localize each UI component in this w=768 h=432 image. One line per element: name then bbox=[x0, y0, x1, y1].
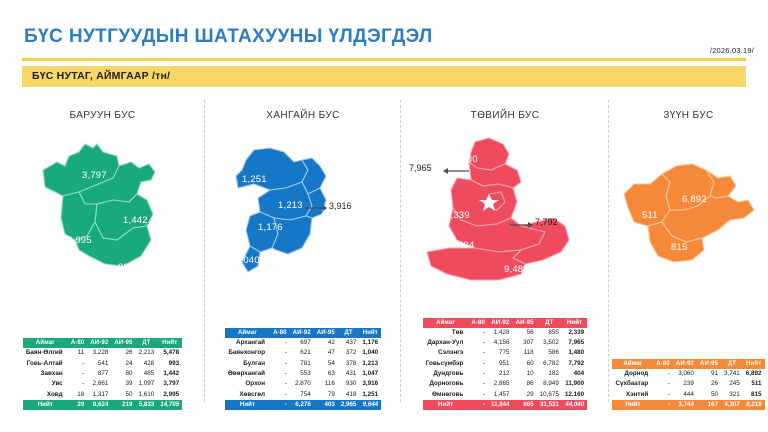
cell-total: 1,442 bbox=[157, 369, 182, 379]
cell-ai95: 118 bbox=[513, 348, 537, 358]
region-panel-zuun: ЗҮҮН БУС 6,892 511 815 Аймаг bbox=[609, 92, 768, 432]
cell-dt: 2,213 bbox=[135, 348, 157, 358]
cell-ai95: 26 bbox=[697, 379, 721, 389]
regions-container: БАРУУН БУС 3,797 5,478 1,442 2,995 993 bbox=[0, 92, 768, 432]
table-row: Баян-Өлгий 11 3,228 26 2,213 5,478 bbox=[23, 348, 182, 358]
callout-arrow-icon bbox=[509, 221, 533, 229]
cell-ai95: 63 bbox=[314, 369, 338, 379]
cell-total: 404 bbox=[562, 369, 587, 379]
cell-aimag: Баян-Өлгий bbox=[23, 348, 68, 358]
region-table-wrap-zuun: Аймаг А-80 АИ-92 АИ-95 ДТ Нийт Дорнод - … bbox=[609, 359, 768, 410]
table-total-row: Нийт - 11,844 665 31,531 44,040 bbox=[423, 400, 587, 410]
cell-total-label: Нийт bbox=[225, 400, 270, 410]
cell-dt: 586 bbox=[537, 348, 562, 358]
table-body: Дорнод - 3,060 91 3,741 6,892 Сүхбаатар … bbox=[612, 369, 764, 400]
col-ai92: АИ-92 bbox=[87, 338, 111, 348]
table-row: Завхан - 877 80 485 1,442 bbox=[23, 369, 182, 379]
cell-dt: 485 bbox=[135, 369, 157, 379]
region-panel-hangai: ХАНГАЙН БУС 1,251 1,213 1,176 1,040 1,04… bbox=[205, 92, 401, 432]
table-total-row: Нийт 29 8,624 219 5,833 14,705 bbox=[23, 400, 182, 410]
report-date: /2026.03.19/ bbox=[710, 46, 754, 55]
region-table-tuv: Аймаг А-80 АИ-92 АИ-95 ДТ Нийт Төв - 1,4… bbox=[423, 318, 587, 410]
table-foot: Нийт - 11,844 665 31,531 44,040 bbox=[423, 400, 587, 410]
cell-total: 12,160 bbox=[562, 390, 587, 400]
cell-ai92: 781 bbox=[290, 359, 314, 369]
col-dt: ДТ bbox=[537, 318, 562, 328]
cell-total: 1,213 bbox=[359, 359, 381, 369]
table-row: Архангай - 697 42 437 1,176 bbox=[225, 338, 381, 348]
map-shape-tuv bbox=[413, 122, 598, 290]
cell-total-a80: - bbox=[653, 400, 673, 410]
cell-dt: 372 bbox=[338, 348, 359, 358]
cell-ai92: 754 bbox=[290, 390, 314, 400]
region-table-zuun: Аймаг А-80 АИ-92 АИ-95 ДТ Нийт Дорнод - … bbox=[612, 359, 764, 410]
col-a80: А-80 bbox=[68, 338, 88, 348]
cell-total-ai95: 219 bbox=[111, 400, 135, 410]
region-panel-tuv: ТӨВИЙН БУС 1,480 2,339 404 9,485 12,160 bbox=[401, 92, 609, 432]
cell-dt: 6,782 bbox=[537, 359, 562, 369]
table-row: Дорнод - 3,060 91 3,741 6,892 bbox=[612, 369, 764, 379]
cell-dt: 1,610 bbox=[135, 390, 157, 400]
cell-a80: - bbox=[270, 348, 290, 358]
cell-a80: - bbox=[68, 379, 88, 389]
cell-total: 7,792 bbox=[562, 359, 587, 369]
table-body: Баян-Өлгий 11 3,228 26 2,213 5,478 Говь-… bbox=[23, 348, 182, 399]
cell-aimag: Говьсүмбэр bbox=[423, 359, 469, 369]
cell-ai95: 42 bbox=[314, 338, 338, 348]
cell-ai95: 116 bbox=[314, 379, 338, 389]
cell-dt: 8,949 bbox=[537, 379, 562, 389]
cell-aimag: Дорнод bbox=[612, 369, 653, 379]
table-foot: Нийт - 6,276 403 2,965 9,644 bbox=[225, 400, 381, 410]
region-table-wrap-hangai: Аймаг А-80 АИ-92 АИ-95 ДТ Нийт Архангай … bbox=[205, 328, 401, 410]
region-panel-baruun: БАРУУН БУС 3,797 5,478 1,442 2,995 993 bbox=[0, 92, 205, 432]
cell-ai92: 2,870 bbox=[290, 379, 314, 389]
table-row: Говьсүмбэр - 951 60 6,782 7,792 bbox=[423, 359, 587, 369]
cell-ai95: 91 bbox=[697, 369, 721, 379]
cell-total-dt: 2,965 bbox=[338, 400, 359, 410]
map-shape-zuun bbox=[614, 122, 764, 282]
cell-ai92: 239 bbox=[673, 379, 697, 389]
cell-a80: - bbox=[468, 338, 488, 348]
cell-total: 11,900 bbox=[562, 379, 587, 389]
cell-ai95: 60 bbox=[513, 359, 537, 369]
cell-total: 3,916 bbox=[359, 379, 381, 389]
cell-total: 815 bbox=[743, 390, 765, 400]
cell-ai92: 951 bbox=[488, 359, 513, 369]
cell-aimag: Хэнтий bbox=[612, 390, 653, 400]
region-map-zuun: 6,892 511 815 bbox=[609, 122, 768, 297]
table-row: Орхон - 2,870 116 930 3,916 bbox=[225, 379, 381, 389]
cell-ai95: 307 bbox=[513, 338, 537, 348]
cell-total: 3,797 bbox=[157, 379, 182, 389]
cell-total-a80: 29 bbox=[68, 400, 88, 410]
cell-aimag: Дорноговь bbox=[423, 379, 469, 389]
cell-a80: - bbox=[270, 369, 290, 379]
cell-total: 1,047 bbox=[359, 369, 381, 379]
page-header: БҮС НУТГУУДЫН ШАТАХУУНЫ ҮЛДЭГДЭЛ /2026.0… bbox=[0, 0, 768, 62]
cell-a80: 18 bbox=[68, 390, 88, 400]
col-ai92: АИ-92 bbox=[290, 328, 314, 338]
section-bar: БҮС НУТАГ, АЙМГААР /тн/ bbox=[22, 66, 746, 87]
cell-aimag: Говь-Алтай bbox=[23, 359, 68, 369]
cell-dt: 855 bbox=[537, 328, 562, 338]
cell-a80: - bbox=[68, 369, 88, 379]
section-label: БҮС НУТАГ, АЙМГААР /тн/ bbox=[32, 70, 170, 82]
col-ai95: АИ-95 bbox=[314, 328, 338, 338]
cell-a80: - bbox=[468, 379, 488, 389]
table-row: Говь-Алтай - 541 24 428 993 bbox=[23, 359, 182, 369]
col-ai95: АИ-95 bbox=[513, 318, 537, 328]
table-body: Архангай - 697 42 437 1,176 Баянхонгор -… bbox=[225, 338, 381, 400]
col-a80: А-80 bbox=[653, 359, 673, 369]
cell-total-sum: 8,218 bbox=[743, 400, 765, 410]
col-total: Нийт bbox=[743, 359, 765, 369]
cell-dt: 3,502 bbox=[537, 338, 562, 348]
region-table-hangai: Аймаг А-80 АИ-92 АИ-95 ДТ Нийт Архангай … bbox=[225, 328, 381, 410]
table-row: Увс - 2,661 39 1,097 3,797 bbox=[23, 379, 182, 389]
cell-ai95: 50 bbox=[111, 390, 135, 400]
cell-total-a80: - bbox=[270, 400, 290, 410]
cell-total-ai92: 3,744 bbox=[673, 400, 697, 410]
cell-ai92: 212 bbox=[488, 369, 513, 379]
map-shape-hangai bbox=[216, 122, 391, 282]
cell-dt: 431 bbox=[338, 369, 359, 379]
cell-total-dt: 5,833 bbox=[135, 400, 157, 410]
cell-a80: - bbox=[270, 338, 290, 348]
cell-dt: 418 bbox=[338, 390, 359, 400]
cell-dt: 930 bbox=[338, 379, 359, 389]
col-total: Нийт bbox=[359, 328, 381, 338]
cell-ai92: 553 bbox=[290, 369, 314, 379]
cell-a80: - bbox=[653, 390, 673, 400]
col-dt: ДТ bbox=[135, 338, 157, 348]
cell-ai92: 4,156 bbox=[488, 338, 513, 348]
table-head: Аймаг А-80 АИ-92 АИ-95 ДТ Нийт bbox=[225, 328, 381, 338]
table-head: Аймаг А-80 АИ-92 АИ-95 ДТ Нийт bbox=[23, 338, 182, 348]
cell-total-ai95: 665 bbox=[513, 400, 537, 410]
region-map-hangai: 1,251 1,213 1,176 1,040 1,047 3,916 bbox=[205, 122, 401, 297]
cell-a80: - bbox=[468, 328, 488, 338]
region-title-tuv: ТӨВИЙН БУС bbox=[401, 110, 609, 121]
map-callout-orhon: 3,916 bbox=[329, 201, 352, 211]
cell-total-ai92: 6,276 bbox=[290, 400, 314, 410]
table-row: Ховд 18 1,317 50 1,610 2,995 bbox=[23, 390, 182, 400]
table-body: Төв - 1,428 56 855 2,339 Дархан-Уул - 4,… bbox=[423, 328, 587, 400]
col-dt: ДТ bbox=[338, 328, 359, 338]
cell-aimag: Өвөрхангай bbox=[225, 369, 270, 379]
table-head: Аймаг А-80 АИ-92 АИ-95 ДТ Нийт bbox=[612, 359, 764, 369]
cell-dt: 10,675 bbox=[537, 390, 562, 400]
col-aimag: Аймаг bbox=[225, 328, 270, 338]
cell-a80: 11 bbox=[68, 348, 88, 358]
cell-ai95: 39 bbox=[111, 379, 135, 389]
col-ai95: АИ-95 bbox=[111, 338, 135, 348]
table-head: Аймаг А-80 АИ-92 АИ-95 ДТ Нийт bbox=[423, 318, 587, 328]
table-row: Дундговь - 212 10 182 404 bbox=[423, 369, 587, 379]
cell-ai92: 877 bbox=[87, 369, 111, 379]
region-title-hangai: ХАНГАЙН БУС bbox=[205, 110, 401, 121]
cell-ai92: 3,060 bbox=[673, 369, 697, 379]
cell-total: 993 bbox=[157, 359, 182, 369]
cell-ai95: 29 bbox=[513, 390, 537, 400]
cell-a80: - bbox=[468, 359, 488, 369]
cell-total: 2,339 bbox=[562, 328, 587, 338]
region-map-tuv: 1,480 2,339 404 9,485 12,160 7,965 7,792 bbox=[401, 122, 609, 297]
cell-total-ai95: 167 bbox=[697, 400, 721, 410]
cell-total: 2,995 bbox=[157, 390, 182, 400]
map-callout-govisumber: 7,792 bbox=[535, 217, 558, 227]
table-row: Хэнтий - 444 50 321 815 bbox=[612, 390, 764, 400]
col-aimag: Аймаг bbox=[423, 318, 469, 328]
col-a80: А-80 bbox=[270, 328, 290, 338]
region-table-wrap-baruun: Аймаг А-80 АИ-92 АИ-95 ДТ Нийт Баян-Өлги… bbox=[0, 338, 205, 410]
col-a80: А-80 bbox=[468, 318, 488, 328]
callout-arrow-icon bbox=[443, 167, 469, 175]
cell-total: 7,965 bbox=[562, 338, 587, 348]
map-shape-baruun bbox=[13, 122, 193, 282]
cell-a80: - bbox=[653, 369, 673, 379]
col-total: Нийт bbox=[157, 338, 182, 348]
cell-total-dt: 31,531 bbox=[537, 400, 562, 410]
cell-total-ai95: 403 bbox=[314, 400, 338, 410]
cell-ai95: 50 bbox=[697, 390, 721, 400]
cell-ai92: 1,317 bbox=[87, 390, 111, 400]
cell-total-sum: 44,040 bbox=[562, 400, 587, 410]
cell-ai92: 444 bbox=[673, 390, 697, 400]
page-title: БҮС НУТГУУДЫН ШАТАХУУНЫ ҮЛДЭГДЭЛ bbox=[24, 26, 433, 48]
cell-a80: - bbox=[270, 359, 290, 369]
cell-total-a80: - bbox=[468, 400, 488, 410]
table-row: Хөвсгөл - 754 79 418 1,251 bbox=[225, 390, 381, 400]
cell-ai95: 79 bbox=[314, 390, 338, 400]
cell-aimag: Орхон bbox=[225, 379, 270, 389]
table-foot: Нийт - 3,744 167 4,307 8,218 bbox=[612, 400, 764, 410]
cell-dt: 428 bbox=[135, 359, 157, 369]
cell-dt: 437 bbox=[338, 338, 359, 348]
cell-total-sum: 14,705 bbox=[157, 400, 182, 410]
table-total-row: Нийт - 3,744 167 4,307 8,218 bbox=[612, 400, 764, 410]
table-header-row: Аймаг А-80 АИ-92 АИ-95 ДТ Нийт bbox=[225, 328, 381, 338]
cell-total: 511 bbox=[743, 379, 765, 389]
table-header-row: Аймаг А-80 АИ-92 АИ-95 ДТ Нийт bbox=[612, 359, 764, 369]
table-header-row: Аймаг А-80 АИ-92 АИ-95 ДТ Нийт bbox=[423, 318, 587, 328]
cell-total-label: Нийт bbox=[423, 400, 469, 410]
cell-dt: 182 bbox=[537, 369, 562, 379]
cell-ai95: 56 bbox=[513, 328, 537, 338]
cell-ai92: 697 bbox=[290, 338, 314, 348]
region-table-wrap-tuv: Аймаг А-80 АИ-92 АИ-95 ДТ Нийт Төв - 1,4… bbox=[401, 318, 609, 410]
cell-total-dt: 4,307 bbox=[721, 400, 743, 410]
table-row: Баянхонгор - 621 47 372 1,040 bbox=[225, 348, 381, 358]
cell-a80: - bbox=[468, 390, 488, 400]
cell-dt: 245 bbox=[721, 379, 743, 389]
cell-total: 1,480 bbox=[562, 348, 587, 358]
title-underline bbox=[22, 58, 746, 61]
cell-dt: 378 bbox=[338, 359, 359, 369]
table-row: Сэлэнгэ - 775 118 586 1,480 bbox=[423, 348, 587, 358]
cell-ai95: 10 bbox=[513, 369, 537, 379]
cell-aimag: Ховд bbox=[23, 390, 68, 400]
callout-arrow-icon bbox=[305, 204, 327, 212]
table-row: Булган - 781 54 378 1,213 bbox=[225, 359, 381, 369]
cell-aimag: Өмнөговь bbox=[423, 390, 469, 400]
cell-ai92: 541 bbox=[87, 359, 111, 369]
cell-ai95: 24 bbox=[111, 359, 135, 369]
cell-a80: - bbox=[468, 369, 488, 379]
cell-ai95: 86 bbox=[513, 379, 537, 389]
cell-total-ai92: 11,844 bbox=[488, 400, 513, 410]
table-header-row: Аймаг А-80 АИ-92 АИ-95 ДТ Нийт bbox=[23, 338, 182, 348]
cell-a80: - bbox=[468, 348, 488, 358]
cell-aimag: Дундговь bbox=[423, 369, 469, 379]
col-dt: ДТ bbox=[721, 359, 743, 369]
cell-total-label: Нийт bbox=[612, 400, 653, 410]
map-callout-darhan-uul: 7,965 bbox=[409, 163, 432, 173]
region-table-baruun: Аймаг А-80 АИ-92 АИ-95 ДТ Нийт Баян-Өлги… bbox=[23, 338, 182, 410]
cell-ai92: 2,865 bbox=[488, 379, 513, 389]
table-row: Дорноговь - 2,865 86 8,949 11,900 bbox=[423, 379, 587, 389]
cell-total: 1,040 bbox=[359, 348, 381, 358]
cell-ai95: 80 bbox=[111, 369, 135, 379]
cell-total-ai92: 8,624 bbox=[87, 400, 111, 410]
cell-total: 1,251 bbox=[359, 390, 381, 400]
region-map-baruun: 3,797 5,478 1,442 2,995 993 bbox=[0, 122, 205, 297]
table-foot: Нийт 29 8,624 219 5,833 14,705 bbox=[23, 400, 182, 410]
cell-ai92: 3,228 bbox=[87, 348, 111, 358]
table-row: Төв - 1,428 56 855 2,339 bbox=[423, 328, 587, 338]
cell-ai92: 1,428 bbox=[488, 328, 513, 338]
cell-dt: 321 bbox=[721, 390, 743, 400]
cell-ai95: 54 bbox=[314, 359, 338, 369]
col-total: Нийт bbox=[562, 318, 587, 328]
cell-a80: - bbox=[270, 379, 290, 389]
cell-aimag: Завхан bbox=[23, 369, 68, 379]
cell-aimag: Сүхбаатар bbox=[612, 379, 653, 389]
cell-dt: 3,741 bbox=[721, 369, 743, 379]
region-title-baruun: БАРУУН БУС bbox=[0, 110, 205, 121]
cell-dt: 1,097 bbox=[135, 379, 157, 389]
table-total-row: Нийт - 6,276 403 2,965 9,644 bbox=[225, 400, 381, 410]
region-title-zuun: ЗҮҮН БУС bbox=[609, 110, 768, 121]
cell-aimag: Булган bbox=[225, 359, 270, 369]
cell-ai95: 26 bbox=[111, 348, 135, 358]
cell-ai92: 1,457 bbox=[488, 390, 513, 400]
col-ai92: АИ-92 bbox=[673, 359, 697, 369]
table-row: Дархан-Уул - 4,156 307 3,502 7,965 bbox=[423, 338, 587, 348]
cell-ai95: 47 bbox=[314, 348, 338, 358]
cell-aimag: Төв bbox=[423, 328, 469, 338]
cell-ai92: 621 bbox=[290, 348, 314, 358]
cell-a80: - bbox=[653, 379, 673, 389]
table-row: Сүхбаатар - 239 26 245 511 bbox=[612, 379, 764, 389]
cell-total: 5,478 bbox=[157, 348, 182, 358]
cell-aimag: Баянхонгор bbox=[225, 348, 270, 358]
cell-aimag: Хөвсгөл bbox=[225, 390, 270, 400]
cell-aimag: Дархан-Уул bbox=[423, 338, 469, 348]
cell-ai92: 775 bbox=[488, 348, 513, 358]
table-row: Өмнөговь - 1,457 29 10,675 12,160 bbox=[423, 390, 587, 400]
cell-a80: - bbox=[68, 359, 88, 369]
cell-aimag: Архангай bbox=[225, 338, 270, 348]
cell-aimag: Сэлэнгэ bbox=[423, 348, 469, 358]
cell-aimag: Увс bbox=[23, 379, 68, 389]
col-aimag: Аймаг bbox=[612, 359, 653, 369]
cell-ai92: 2,661 bbox=[87, 379, 111, 389]
cell-total: 1,176 bbox=[359, 338, 381, 348]
cell-total-sum: 9,644 bbox=[359, 400, 381, 410]
col-aimag: Аймаг bbox=[23, 338, 68, 348]
cell-a80: - bbox=[270, 390, 290, 400]
col-ai95: АИ-95 bbox=[697, 359, 721, 369]
table-row: Өвөрхангай - 553 63 431 1,047 bbox=[225, 369, 381, 379]
cell-total: 6,892 bbox=[743, 369, 765, 379]
cell-total-label: Нийт bbox=[23, 400, 68, 410]
col-ai92: АИ-92 bbox=[488, 318, 513, 328]
